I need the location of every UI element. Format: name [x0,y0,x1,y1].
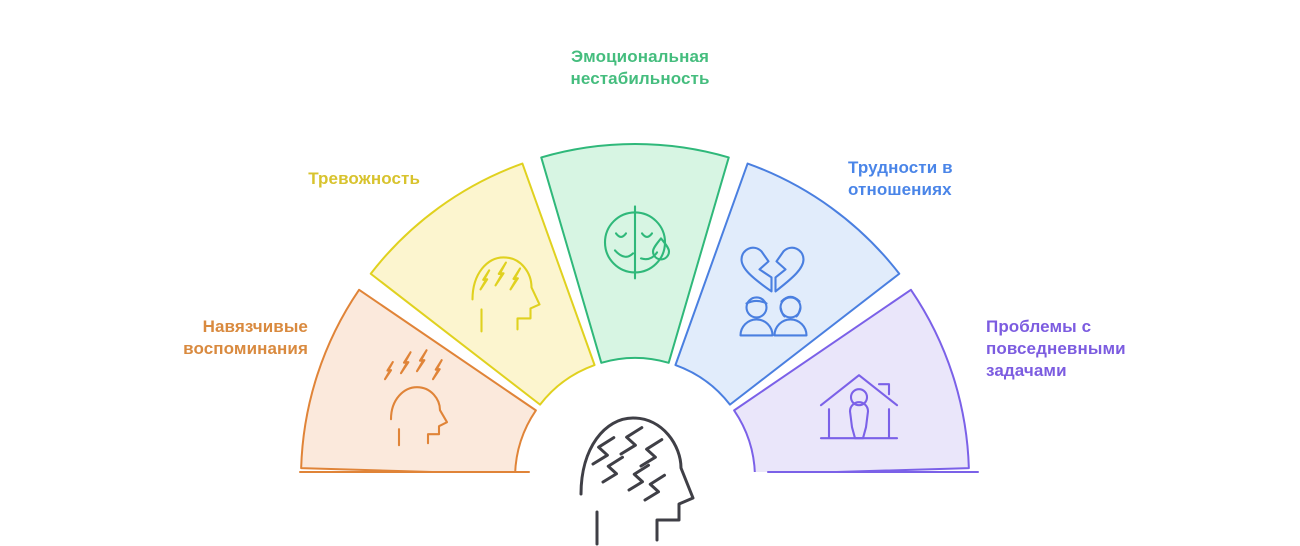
segment-label-relationship-difficulties: Трудности в отношениях [848,157,1108,201]
segment-label-daily-task-problems: Проблемы с повседневными задачами [986,316,1266,382]
diagram-canvas: Навязчивые воспоминанияТревожностьЭмоцио… [0,0,1300,546]
segment-label-emotional-instability: Эмоциональная нестабильность [520,46,760,90]
segment-label-intrusive-memories: Навязчивые воспоминания [30,316,308,360]
segment-label-anxiety: Тревожность [140,168,420,190]
